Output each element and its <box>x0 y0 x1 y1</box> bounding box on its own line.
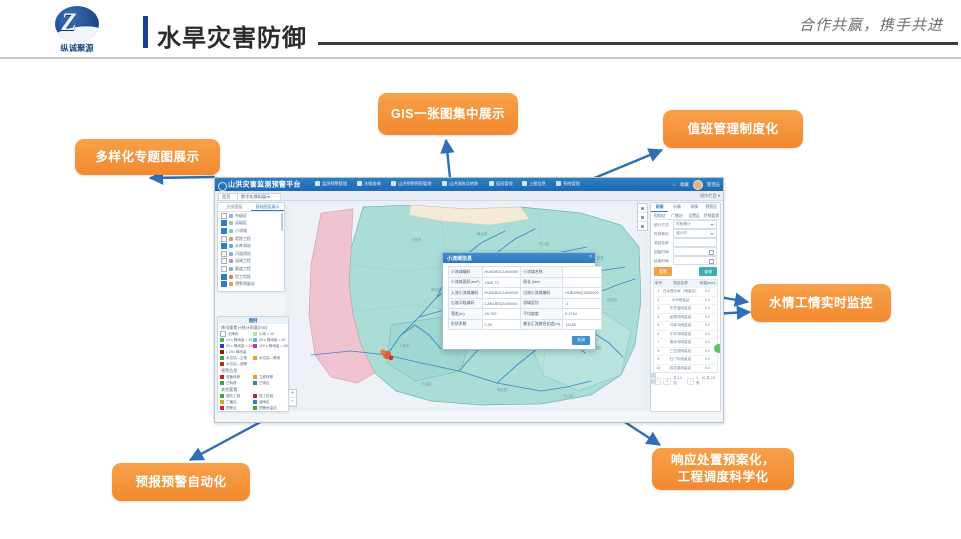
app-title: 山洪灾害监测预警平台 <box>228 180 301 190</box>
tab-current[interactable]: 数字化模拟展示 <box>237 193 281 201</box>
map-legend-panel: 图例 降雨量累计统计雨量(mm) 无降雨 小雨 < 10 10 ≤ 降雨量 < … <box>217 316 289 412</box>
nav-icon-1 <box>357 181 362 186</box>
panel-side-handles[interactable] <box>651 373 656 385</box>
tree-item-label: 堤防工程 <box>235 236 251 242</box>
tree-item-label: 县级区 <box>235 221 247 227</box>
total-pages-label: 共 13 页 <box>673 376 685 386</box>
time-unit-select[interactable]: 逐小时 <box>673 229 717 238</box>
layer-color-swatch <box>229 252 233 256</box>
status-bubble-icon[interactable] <box>714 344 721 353</box>
expand-handle-icon[interactable] <box>651 379 656 384</box>
legend-item: 已转移 <box>220 380 253 386</box>
cell-no: 10 <box>654 365 663 373</box>
table-row[interactable]: 1白龙潭水库（雨量站）0.0 <box>654 287 717 296</box>
field-label: 统计方式: <box>654 222 670 228</box>
attr-label: 出流河段编码 <box>449 298 483 309</box>
star-icon[interactable]: ☆ <box>672 182 676 188</box>
record-range-label: 1 - 10 共 13 条 <box>696 376 717 386</box>
panel-tab-5[interactable]: 广播站 <box>668 212 685 220</box>
cell-no: 5 <box>654 322 663 330</box>
slide-root: Z 纵诚聚源 水旱灾害防御 合作共赢，携手共进 <box>0 0 961 539</box>
legend-label: 25 ≤ 降雨量 < 50 <box>259 338 285 343</box>
watershed-attr-table: 小流域编码HUB1B0C1A00000小流域名称 小流域面积(km²)4344.… <box>448 266 602 330</box>
attr-value: 0.39 <box>482 319 521 330</box>
table-header: 序号 测站名称 雨量(mm) <box>654 280 717 287</box>
table-row[interactable]: 6牛车河雨量站0.0 <box>654 330 717 339</box>
cell-no: 2 <box>654 297 663 305</box>
checkbox-icon[interactable] <box>221 258 227 264</box>
cell-name: 牛车河雨量站 <box>663 331 698 339</box>
field-label: 测站名称: <box>654 240 670 246</box>
cell-no: 4 <box>654 314 663 322</box>
callout-response-plan: 响应处置预案化， 工程调度科学化 <box>652 448 794 490</box>
attr-value: HUB1B0C1A00000 <box>482 267 521 278</box>
zoom-out-button[interactable]: − <box>289 398 296 406</box>
favorite-label: 收藏 <box>680 182 689 188</box>
callout-gis-onemap: GIS一张图集中展示 <box>378 93 518 135</box>
legend-swatch <box>253 332 257 336</box>
table-row[interactable]: 5马家冲雨量站0.0 <box>654 321 717 330</box>
callout-forecast-warning: 预报预警自动化 <box>112 463 250 501</box>
attr-label: 落差(m) <box>449 309 483 320</box>
cell-value: 0.0 <box>698 305 717 313</box>
table-row[interactable]: 10桃花溪雨量站0.0 <box>654 364 717 373</box>
panel-tab-7[interactable]: 特殊要素 <box>703 212 720 220</box>
legend-item: 100 ≤ 降雨量 < 250 <box>253 343 286 349</box>
nav-item-5[interactable]: 上报信息 <box>522 181 547 187</box>
legend-section-other: 其他要素 <box>218 386 288 393</box>
tree-item-label: 小流域 <box>235 228 247 234</box>
title-rule <box>318 42 958 45</box>
slide-header: Z 纵诚聚源 水旱灾害防御 合作共赢，携手共进 <box>0 0 961 62</box>
attr-label: 平均坡度 <box>521 309 563 320</box>
attr-label: 小流域编码 <box>449 267 483 278</box>
tree-item-label: 市级区 <box>235 213 247 219</box>
field-statistic-method: 统计方式: 时段累计 <box>651 220 720 229</box>
tab-right-menu[interactable]: 操作栏目 ▾ <box>700 193 720 199</box>
station-name-input[interactable] <box>673 238 717 247</box>
legend-title: 图例 <box>218 317 288 324</box>
callout-duty-management: 值班管理制度化 <box>663 110 803 148</box>
legend-swatch <box>220 344 224 348</box>
layer-color-swatch <box>229 237 233 241</box>
svg-text:竹山县: 竹山县 <box>539 241 550 246</box>
legend-label: 准备转移 <box>226 375 240 380</box>
tree-item-7[interactable]: 渠道工程 <box>218 265 284 273</box>
table-row: 小流域编码HUB1B0C1A00000小流域名称 <box>449 267 602 278</box>
cell-no: 7 <box>654 339 663 347</box>
app-nav[interactable]: 监测预警管理 水情查询 山洪预警预报管理 山洪演练及转移 值班管理 上报信息 系… <box>315 181 581 187</box>
page-title: 水旱灾害防御 <box>157 18 307 53</box>
nav-icon-5 <box>522 181 527 186</box>
table-pagination[interactable]: ‹ 1 共 13 页 › 1 - 10 共 13 条 <box>651 373 720 389</box>
cell-no: 8 <box>654 348 663 356</box>
app-top-bar: 山洪灾害监测预警平台 监测预警管理 水情查询 山洪预警预报管理 山洪演练及转移 … <box>215 178 723 191</box>
cell-name: 马家冲雨量站 <box>663 322 698 330</box>
legend-section-warn: 预警信息 <box>218 367 288 374</box>
legend-item: 水位站—超警 <box>220 361 253 367</box>
legend-label: 涵闸区 <box>259 400 270 405</box>
legend-swatch <box>220 338 224 342</box>
attr-value: 4344.73 <box>482 277 521 288</box>
legend-label: 预警点 <box>226 406 237 411</box>
query-button[interactable]: 查询 <box>699 267 717 276</box>
legend-swatch <box>253 375 257 379</box>
tree-tab-0[interactable]: 业务图层 <box>218 203 251 211</box>
legend-swatch <box>220 331 226 337</box>
legend-swatch <box>253 406 257 410</box>
nav-icon-6 <box>556 181 561 186</box>
map-zoom-control[interactable]: + − <box>288 389 297 407</box>
attr-label: 出流小流域编码 <box>521 288 563 299</box>
dialog-close-button[interactable]: 关闭 <box>572 336 590 345</box>
panel-action-buttons: 重置 查询 <box>651 265 720 279</box>
select-value: 时段累计 <box>676 222 691 227</box>
map-tool-stack[interactable] <box>637 203 648 231</box>
legend-swatch <box>253 356 257 360</box>
attr-value <box>563 267 602 278</box>
tree-item-3[interactable]: 堤防工程 <box>218 235 284 243</box>
layers-icon[interactable] <box>638 204 647 213</box>
avatar[interactable] <box>693 180 703 190</box>
nav-icon-3 <box>442 181 447 186</box>
legend-swatch <box>220 400 224 404</box>
callout-line-1: 响应处置预案化， <box>671 452 775 469</box>
tree-item-6[interactable]: 涵闸工程 <box>218 258 284 266</box>
table-row[interactable]: 7清水河雨量站0.0 <box>654 338 717 347</box>
attr-value: -1 <box>563 298 602 309</box>
layer-color-swatch <box>229 275 233 279</box>
legend-warn-group: 准备转移 立即转移 已转移 已响应 <box>218 374 288 386</box>
layer-color-swatch <box>229 267 233 271</box>
next-page-button[interactable]: › <box>687 378 694 385</box>
arrow-to-c2 <box>446 140 450 178</box>
svg-text:神农架: 神农架 <box>497 387 508 392</box>
panel-tabs[interactable]: 雨情 水情 旱情 预警区 视频站 广播站 设置区 特殊要素 <box>651 203 720 220</box>
svg-text:郧西县: 郧西县 <box>431 287 442 292</box>
col-value: 雨量(mm) <box>698 280 717 287</box>
cell-name: 白龙潭水库（雨量站） <box>663 288 698 296</box>
legend-waterlevel-group: 水位站—正常 水位站—警戒 水位站—超警 <box>218 355 288 367</box>
nav-icon-4 <box>489 181 494 186</box>
cell-name: 清水河雨量站 <box>663 339 698 347</box>
attr-value: 49.700 <box>482 309 521 320</box>
svg-text:谷城县: 谷城县 <box>607 297 618 302</box>
attr-label: 入流小流域编码 <box>449 288 483 299</box>
field-label: 起始时间: <box>654 249 670 255</box>
collapse-handle-icon[interactable] <box>651 373 656 378</box>
layer-tree-tabs[interactable]: 业务图层 基础图层展示 <box>218 203 284 212</box>
legend-label: 堤防工程 <box>226 394 240 399</box>
dialog-titlebar: 小流域信息 × <box>443 253 595 263</box>
reset-button[interactable]: 重置 <box>654 267 672 276</box>
layer-color-swatch <box>229 214 233 218</box>
svg-text:竹溪县: 竹溪县 <box>421 381 432 386</box>
cell-name: 桃花溪雨量站 <box>663 365 698 373</box>
legend-label: 水位站—警戒 <box>259 356 280 361</box>
tree-item-8[interactable]: 险工险段 <box>218 273 284 281</box>
tree-item-label: 渠道工程 <box>235 266 251 272</box>
attr-label: 形状系数 <box>449 319 483 330</box>
tree-tab-1[interactable]: 基础图层展示 <box>251 203 284 211</box>
table-row: 落差(m)49.700平均坡度0.1754 <box>449 309 602 320</box>
legend-swatch <box>253 338 257 342</box>
table-row: 小流域面积(km²)4344.73周长 (km) <box>449 277 602 288</box>
panel-tab-0[interactable]: 雨情 <box>651 203 668 212</box>
legend-swatch <box>253 394 257 398</box>
table-row[interactable]: 4龙潭河雨量站0.0 <box>654 313 717 322</box>
legend-swatch <box>220 362 224 366</box>
tree-item-label: 水库测站 <box>235 243 251 249</box>
table-row[interactable]: 9石门坎雨量站0.0 <box>654 355 717 364</box>
attr-label: 小流域名称 <box>521 267 563 278</box>
callout-line-2: 工程调度科学化 <box>677 469 768 486</box>
svg-text:兴山县: 兴山县 <box>563 393 574 398</box>
cell-value: 0.0 <box>698 314 717 322</box>
field-station-name: 测站名称: <box>651 238 720 247</box>
checkbox-icon[interactable] <box>221 220 227 226</box>
checkbox-icon[interactable] <box>221 266 227 272</box>
nav-label-1: 水情查询 <box>364 181 381 187</box>
checkbox-icon[interactable] <box>221 281 227 287</box>
realtime-monitor-panel: 实时监控 ▾ 雨情 水情 旱情 预警区 视频站 广播站 设置区 特殊要素 统计方… <box>650 202 721 412</box>
layer-color-swatch <box>229 282 233 286</box>
checkbox-icon[interactable] <box>221 228 227 234</box>
field-start-time: 起始时间: <box>651 247 720 256</box>
field-label: 结束时间: <box>654 258 670 264</box>
watershed-info-dialog: 小流域信息 × 小流域编码HUB1B0C1A00000小流域名称 小流域面积(k… <box>442 252 596 350</box>
attr-value: HUB1B0Q1B00000 <box>563 288 602 299</box>
nav-label-0: 监测预警管理 <box>322 181 347 187</box>
legend-item: 已响应 <box>253 380 286 386</box>
table-row: 出流河段编码CAB1B0Q1000000流域层别-1 <box>449 298 602 309</box>
fullscreen-icon[interactable] <box>638 222 647 230</box>
cell-name: 大坝雨量站 <box>663 297 698 305</box>
field-end-time: 结束时间: <box>651 256 720 265</box>
statistic-method-select[interactable]: 时段累计 <box>673 220 717 229</box>
attr-value <box>563 277 602 288</box>
tree-item-1[interactable]: 县级区 <box>218 220 284 228</box>
panel-tab-2[interactable]: 旱情 <box>686 203 703 212</box>
legend-label: ≥ 250 降雨量 <box>226 350 246 355</box>
field-time-unit: 时间单位: 逐小时 <box>651 229 720 238</box>
attr-label: 小流域面积(km²) <box>449 277 483 288</box>
col-no: 序号 <box>654 280 663 287</box>
cell-value: 0.0 <box>698 365 717 373</box>
nav-icon-0 <box>315 181 320 186</box>
cell-name: 东岳庙雨量站 <box>663 305 698 313</box>
svg-text:十堰市: 十堰市 <box>399 343 410 348</box>
nav-label-5: 上报信息 <box>529 181 546 187</box>
layer-color-swatch <box>229 259 233 263</box>
header-underline <box>0 57 961 59</box>
rain-data-table: 序号 测站名称 雨量(mm) 1白龙潭水库（雨量站）0.0 2大坝雨量站0.0 … <box>653 279 718 373</box>
nav-item-0[interactable]: 监测预警管理 <box>315 181 348 187</box>
table-row[interactable]: 8三岔河雨量站0.0 <box>654 347 717 356</box>
panel-tab-3[interactable]: 预警区 <box>703 203 720 212</box>
zoom-in-button[interactable]: + <box>289 390 296 398</box>
checkbox-icon[interactable] <box>221 251 227 257</box>
legend-label: 10 ≤ 降雨量 < 25 <box>226 338 252 343</box>
legend-label: 已响应 <box>259 381 270 386</box>
legend-label: 100 ≤ 降雨量 < 250 <box>259 344 289 349</box>
legend-label: 水位站—正常 <box>226 356 247 361</box>
nav-item-3[interactable]: 山洪演练及转移 <box>442 181 480 187</box>
attr-value: 0.1754 <box>563 309 602 320</box>
nav-item-2[interactable]: 山洪预警预报管理 <box>391 181 433 187</box>
cell-no: 9 <box>654 356 663 364</box>
legend-label: 预警雨量站 <box>259 406 277 411</box>
end-time-datepicker[interactable] <box>673 256 717 265</box>
legend-label: 无降雨 <box>228 332 239 337</box>
attr-label: 流域层别 <box>521 298 563 309</box>
tree-item-0[interactable]: 市级区 <box>218 212 284 220</box>
start-time-datepicker[interactable] <box>673 247 717 256</box>
cell-value: 0.0 <box>698 356 717 364</box>
panel-tab-1[interactable]: 水情 <box>668 203 685 212</box>
attr-value: CAB1B0Q1000000 <box>482 298 521 309</box>
user-label: 管理员 <box>707 182 720 188</box>
attr-label: 最长汇流路径长度(m) <box>521 319 563 330</box>
cell-value: 0.0 <box>698 331 717 339</box>
select-value: 逐小时 <box>676 231 687 236</box>
tree-item-label: 河道测站 <box>235 251 251 257</box>
nav-item-4[interactable]: 值班管理 <box>489 181 514 187</box>
layer-tree-panel: 业务图层 基础图层展示 市级区 县级区 小流域 堤防工程 水库测站 河道测站 涵… <box>217 202 285 292</box>
tree-item-label: 险工险段 <box>235 274 251 280</box>
checkbox-icon[interactable] <box>221 274 227 280</box>
legend-swatch <box>253 400 257 404</box>
svg-text:黄龙滩: 黄龙滩 <box>477 231 488 236</box>
nav-label-4: 值班管理 <box>496 181 513 187</box>
nav-icon-2 <box>391 181 396 186</box>
app-tab-strip: 首页 数字化模拟展示 操作栏目 ▾ <box>215 191 723 201</box>
legend-swatch <box>220 350 224 354</box>
nav-label-6: 系统管理 <box>563 181 580 187</box>
cell-name: 石门坎雨量站 <box>663 356 698 364</box>
table-row: 入流小流域编码HUB1B0C1A00000出流小流域编码HUB1B0Q1B000… <box>449 288 602 299</box>
dialog-footer: 关闭 <box>572 328 590 346</box>
cell-no: 6 <box>654 331 663 339</box>
tree-item-4[interactable]: 水库测站 <box>218 242 284 250</box>
legend-label: 50 ≤ 降雨量 < 100 <box>226 344 254 349</box>
company-logo: Z 纵诚聚源 <box>47 6 107 58</box>
logo-letter: Z <box>47 6 91 42</box>
title-accent-bar <box>143 16 148 48</box>
measure-icon[interactable] <box>638 213 647 222</box>
legend-section-rain: 降雨量累计统计雨量(mm) <box>218 324 288 331</box>
table-row[interactable]: 2大坝雨量站0.0 <box>654 296 717 305</box>
layer-color-swatch <box>229 221 233 225</box>
page-number-input[interactable]: 1 <box>663 378 671 385</box>
tree-item-label: 预警雨量站 <box>235 281 255 287</box>
nav-item-6[interactable]: 系统管理 <box>556 181 581 187</box>
cell-value: 0.0 <box>698 288 717 296</box>
tree-item-5[interactable]: 河道测站 <box>218 250 284 258</box>
legend-label: 已转移 <box>226 381 237 386</box>
arrow-to-c1 <box>150 177 215 178</box>
panel-tab-6[interactable]: 设置区 <box>686 212 703 220</box>
tree-item-9[interactable]: 预警雨量站 <box>218 280 284 288</box>
close-icon[interactable]: × <box>589 254 592 260</box>
tree-item-label: 涵闸工程 <box>235 259 251 265</box>
callout-realtime-monitoring: 水情工情实时监控 <box>751 284 891 322</box>
legend-label: 广播站 <box>226 400 237 405</box>
legend-other-group: 堤防工程 险工险段 广播站 涵闸区 预警点 预警雨量站 <box>218 393 288 411</box>
table-row[interactable]: 3东岳庙雨量站0.0 <box>654 304 717 313</box>
panel-tab-4[interactable]: 视频站 <box>651 212 668 220</box>
layer-color-swatch <box>229 229 233 233</box>
svg-text:房县: 房县 <box>597 255 604 260</box>
col-name: 测站名称 <box>663 280 698 287</box>
header-slogan: 合作共赢，携手共进 <box>799 14 943 35</box>
checkbox-icon[interactable] <box>221 243 227 249</box>
cell-value: 0.0 <box>698 322 717 330</box>
legend-swatch <box>220 406 224 410</box>
legend-item: 水位站—警戒 <box>253 355 286 361</box>
checkbox-icon[interactable] <box>221 213 227 219</box>
app-logo-icon <box>218 182 227 191</box>
legend-label: 险工险段 <box>259 394 273 399</box>
legend-label: 立即转移 <box>259 375 273 380</box>
legend-item: 预警点 <box>220 405 253 411</box>
callout-thematic-maps: 多样化专题图展示 <box>75 139 220 175</box>
legend-item: 预警雨量站 <box>253 405 286 411</box>
legend-swatch <box>220 394 224 398</box>
cell-name: 三岔河雨量站 <box>663 348 698 356</box>
cell-name: 龙潭河雨量站 <box>663 314 698 322</box>
nav-item-1[interactable]: 水情查询 <box>357 181 382 187</box>
legend-rain-group: 无降雨 小雨 < 10 10 ≤ 降雨量 < 25 25 ≤ 降雨量 < 50 … <box>218 331 288 355</box>
tree-item-2[interactable]: 小流域 <box>218 227 284 235</box>
layer-color-swatch <box>229 244 233 248</box>
legend-swatch <box>220 375 224 379</box>
attr-value: HUB1B0C1A00000 <box>482 288 521 299</box>
product-screenshot: 山洪灾害监测预警平台 监测预警管理 水情查询 山洪预警预报管理 山洪演练及转移 … <box>214 177 724 423</box>
legend-label: 小雨 < 10 <box>259 332 274 337</box>
legend-swatch <box>220 356 224 360</box>
attr-label: 周长 (km) <box>521 277 563 288</box>
legend-swatch <box>220 381 224 385</box>
dialog-title: 小流域信息 <box>447 255 472 262</box>
cell-no: 3 <box>654 305 663 313</box>
legend-label: 水位站—超警 <box>226 362 247 367</box>
app-user-area[interactable]: ☆ 收藏 管理员 <box>672 180 720 190</box>
legend-swatch <box>253 381 257 385</box>
cell-value: 0.0 <box>698 297 717 305</box>
svg-text:王家河: 王家河 <box>411 237 422 242</box>
nav-label-2: 山洪预警预报管理 <box>398 181 431 187</box>
tree-scrollbar[interactable] <box>281 213 284 231</box>
field-label: 时间单位: <box>654 231 670 237</box>
checkbox-icon[interactable] <box>221 236 227 242</box>
nav-label-3: 山洪演练及转移 <box>449 181 478 187</box>
logo-company-name: 纵诚聚源 <box>49 42 104 54</box>
gis-map[interactable]: 王家河黄龙滩 竹山县房县 郧西县郧阳区 丹江口谷城县 十堰市茅箭区 张湾区保康县… <box>285 201 650 411</box>
cell-no: 1 <box>654 288 663 296</box>
